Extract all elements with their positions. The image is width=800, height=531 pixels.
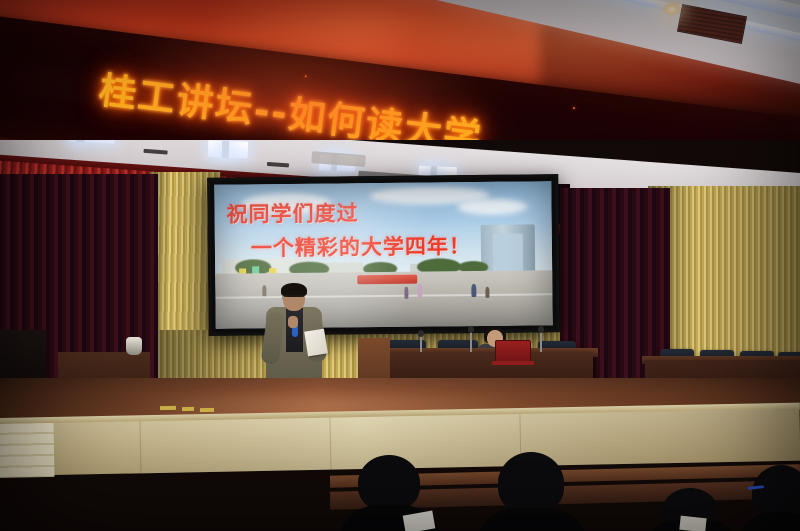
floor-tape-mark (182, 407, 194, 411)
microphone-head-icon (418, 330, 424, 337)
laptop-base (492, 361, 534, 365)
audience-paper (679, 516, 706, 531)
stage-stairs (0, 423, 55, 478)
fluorescent-tube-gap (222, 141, 230, 158)
fluorescent-tube-gap (76, 140, 85, 142)
fluorescent-panel-icon (68, 140, 115, 144)
led-pixel-dot (573, 107, 575, 109)
led-pixel-dot (305, 75, 307, 77)
floor-tape-mark (160, 406, 176, 410)
kettle-icon (126, 337, 142, 355)
microphone-stand-icon (470, 330, 472, 352)
projection-screen: 祝同学们度过 一个精彩的大学四年！ (207, 174, 560, 336)
microphone-head-icon (468, 326, 474, 333)
audience-head (498, 452, 564, 514)
audience-head (358, 455, 420, 511)
presenter-papers (304, 329, 328, 357)
projected-slide: 祝同学们度过 一个精彩的大学四年！ (214, 181, 552, 329)
presenter-hand (288, 316, 298, 328)
presenter-glasses-icon (284, 295, 304, 301)
screen-vignette (214, 181, 552, 329)
downlight-icon (662, 2, 682, 16)
microphone-stand-icon (540, 330, 542, 352)
floor-tape-mark (200, 408, 214, 412)
microphone-head-icon (538, 326, 544, 333)
ceiling-fixture-icon (267, 162, 289, 168)
ceiling-fixture-icon (143, 149, 167, 155)
lecture-hall-photo: 桂工讲坛--如何读大学 主讲人：陈贵英 (0, 0, 800, 531)
